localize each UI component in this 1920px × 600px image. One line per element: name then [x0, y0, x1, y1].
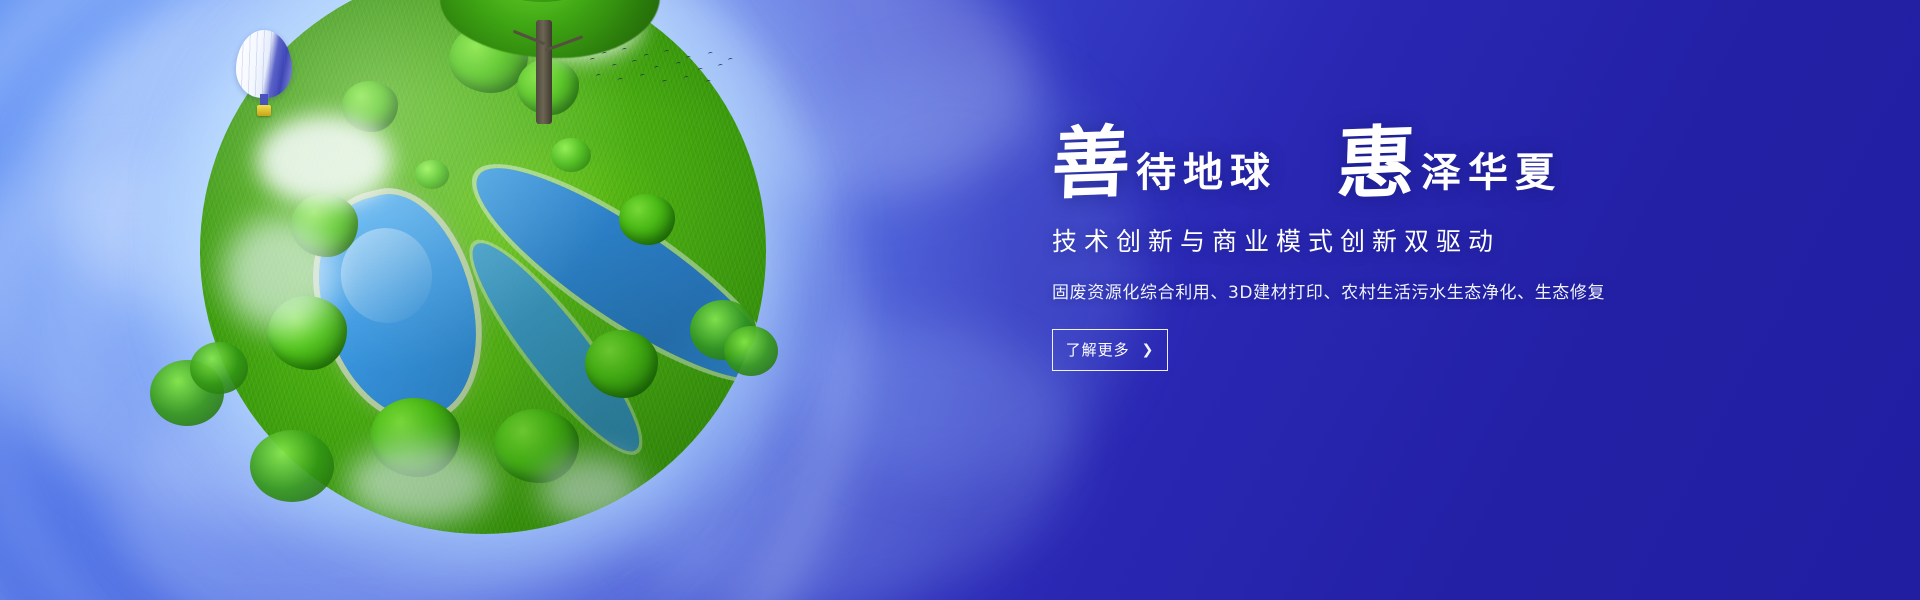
hero-banner: 善 待地球 惠 泽华夏 技术创新与商业模式创新双驱动 固废资源化综合利用、3D建… [0, 0, 1920, 600]
hero-subtitle: 技术创新与商业模式创新双驱动 [1052, 222, 1772, 258]
tree-blob [370, 398, 461, 477]
tree-blob [494, 409, 579, 483]
headline-small-text-2: 泽华夏 [1421, 152, 1562, 200]
tree-blob [619, 194, 676, 245]
tree-blob [291, 194, 359, 256]
headline-segment-1: 善 待地球 [1052, 128, 1277, 200]
chevron-right-icon: ❯ [1142, 342, 1155, 358]
tree-blob [268, 296, 347, 370]
tree-blob [585, 330, 659, 398]
fog-patch [540, 455, 642, 523]
balloon-envelope [236, 30, 292, 98]
learn-more-button[interactable]: 了解更多 ❯ [1052, 329, 1168, 371]
tree-blob [551, 138, 591, 172]
headline-big-char-1: 善 [1051, 127, 1132, 201]
fog-patch [223, 217, 336, 330]
hero-description: 固废资源化综合利用、3D建材打印、农村生活污水生态净化、生态修复 [1052, 278, 1772, 303]
tree-blob [415, 160, 449, 188]
tree-trunk [536, 20, 552, 124]
headline-segment-2: 惠 泽华夏 [1337, 128, 1562, 200]
balloon-basket [257, 105, 271, 116]
headline-big-char-2: 惠 [1336, 127, 1417, 201]
tree-blob [342, 81, 399, 132]
page-title: 善 待地球 惠 泽华夏 [1052, 128, 1772, 200]
river-branch-shape [454, 227, 659, 467]
learn-more-label: 了解更多 [1066, 339, 1130, 360]
lake-shape [299, 180, 497, 435]
fog-patch [257, 115, 393, 206]
hot-air-balloon-icon [236, 30, 292, 120]
river-shape [454, 138, 766, 409]
birds-flock-icon [588, 44, 738, 92]
headline-small-text-1: 待地球 [1136, 152, 1277, 200]
fog-patch [347, 443, 494, 522]
hero-copy: 善 待地球 惠 泽华夏 技术创新与商业模式创新双驱动 固废资源化综合利用、3D建… [1052, 128, 1772, 371]
